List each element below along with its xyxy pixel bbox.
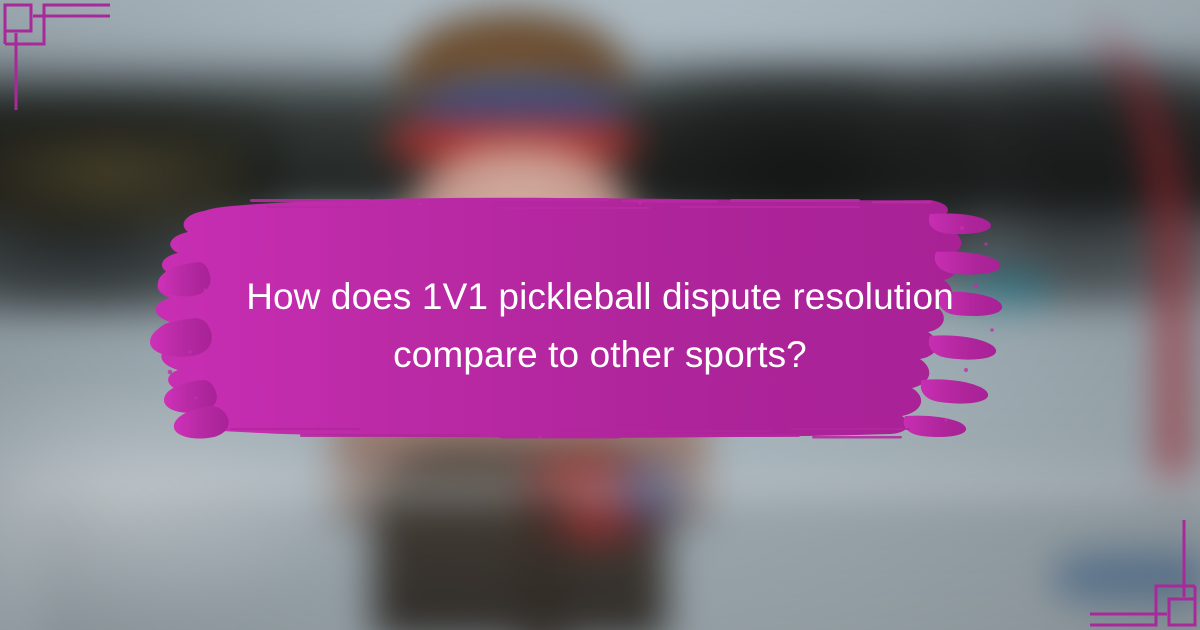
corner-ornament-top-left: [0, 0, 110, 110]
page-title: How does 1V1 pickleball dispute resoluti…: [150, 268, 1050, 384]
corner-frame-icon: [1090, 520, 1200, 630]
background-highlight-glow: [0, 374, 387, 625]
social-share-card: How does 1V1 pickleball dispute resoluti…: [0, 0, 1200, 630]
background-net-post: [520, 492, 567, 630]
corner-ornament-bottom-right: [1090, 520, 1200, 630]
background-olive-patch: [0, 123, 254, 226]
corner-frame-icon: [0, 0, 110, 110]
